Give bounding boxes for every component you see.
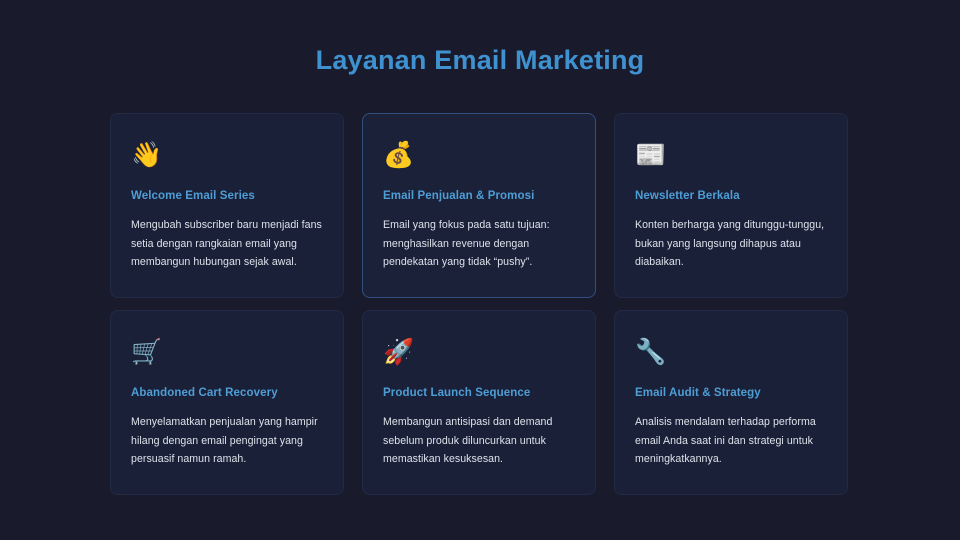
wrench-icon: 🔧 xyxy=(635,337,827,369)
service-card-email-penjualan-promosi[interactable]: 💰 Email Penjualan & Promosi Email yang f… xyxy=(362,113,596,298)
service-card-description: Konten berharga yang ditunggu-tunggu, bu… xyxy=(635,216,827,272)
waving-hand-icon: 👋 xyxy=(131,140,323,172)
service-card-abandoned-cart-recovery[interactable]: 🛒 Abandoned Cart Recovery Menyelamatkan … xyxy=(110,310,344,495)
shopping-cart-icon: 🛒 xyxy=(131,337,323,369)
service-card-title: Product Launch Sequence xyxy=(383,387,575,399)
page-root: Layanan Email Marketing 👋 Welcome Email … xyxy=(0,0,960,540)
service-card-welcome-email-series[interactable]: 👋 Welcome Email Series Mengubah subscrib… xyxy=(110,113,344,298)
service-card-newsletter-berkala[interactable]: 📰 Newsletter Berkala Konten berharga yan… xyxy=(614,113,848,298)
service-card-title: Welcome Email Series xyxy=(131,190,323,202)
rocket-icon: 🚀 xyxy=(383,337,575,369)
newspaper-icon: 📰 xyxy=(635,140,827,172)
service-card-product-launch-sequence[interactable]: 🚀 Product Launch Sequence Membangun anti… xyxy=(362,310,596,495)
service-card-title: Email Audit & Strategy xyxy=(635,387,827,399)
service-card-title: Newsletter Berkala xyxy=(635,190,827,202)
page-title: Layanan Email Marketing xyxy=(0,45,960,76)
service-card-description: Membangun antisipasi dan demand sebelum … xyxy=(383,413,575,469)
service-card-description: Mengubah subscriber baru menjadi fans se… xyxy=(131,216,323,272)
service-card-description: Menyelamatkan penjualan yang hampir hila… xyxy=(131,413,323,469)
money-bag-icon: 💰 xyxy=(383,140,575,172)
service-card-grid: 👋 Welcome Email Series Mengubah subscrib… xyxy=(110,113,850,495)
service-card-description: Email yang fokus pada satu tujuan: mengh… xyxy=(383,216,575,272)
service-card-title: Email Penjualan & Promosi xyxy=(383,190,575,202)
service-card-description: Analisis mendalam terhadap performa emai… xyxy=(635,413,827,469)
service-card-title: Abandoned Cart Recovery xyxy=(131,387,323,399)
service-card-email-audit-strategy[interactable]: 🔧 Email Audit & Strategy Analisis mendal… xyxy=(614,310,848,495)
